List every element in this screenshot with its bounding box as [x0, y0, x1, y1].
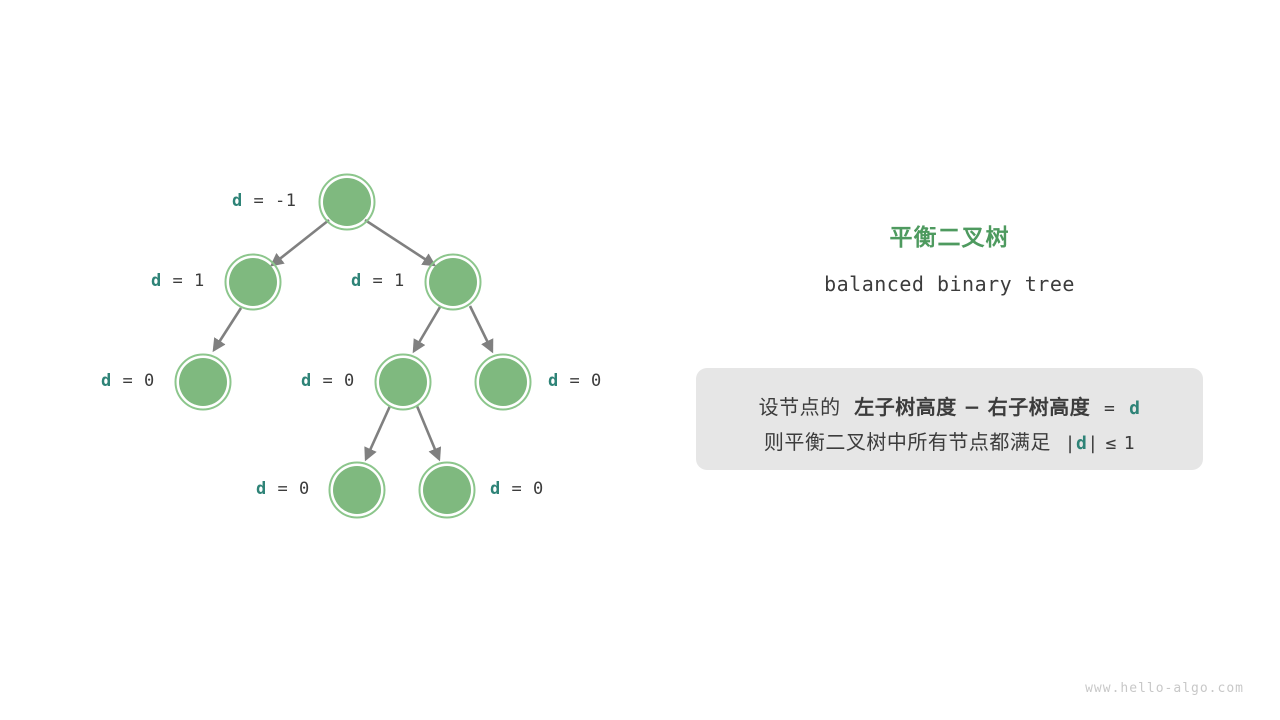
- definition-right-subtree-height: 右子树高度: [988, 395, 1091, 419]
- node-label-left-value: = 1: [162, 271, 205, 291]
- edge-right-rr: [470, 306, 492, 351]
- node-label-left-var: d: [151, 271, 162, 291]
- node-label-right-left-var: d: [301, 371, 312, 391]
- page-subtitle: balanced binary tree: [696, 272, 1203, 296]
- tree-edges: [214, 220, 492, 459]
- tree-node-right-left-right[interactable]: [420, 463, 475, 518]
- node-label-right-left-right-value: = 0: [501, 479, 544, 499]
- tree-node-root[interactable]: [320, 175, 375, 230]
- bound-value: 1: [1124, 433, 1135, 454]
- node-label-right-left: d = 0: [301, 371, 355, 391]
- node-label-right-right: d = 0: [548, 371, 602, 391]
- definition-prefix: 设节点的: [759, 395, 841, 419]
- node-label-right-left-left-var: d: [256, 479, 267, 499]
- tree-node-left-left[interactable]: [176, 355, 231, 410]
- node-label-right-left-left-value: = 0: [267, 479, 310, 499]
- relation-sign: ≤: [1106, 433, 1117, 454]
- definition-box: 设节点的 左子树高度 − 右子树高度 = d 则平衡二叉树中所有节点都满足 |d…: [696, 368, 1203, 470]
- edge-rl-rll: [366, 406, 390, 459]
- node-label-right-right-value: = 0: [559, 371, 602, 391]
- node-label-right-right-var: d: [548, 371, 559, 391]
- definition-variable-d: d: [1129, 398, 1140, 419]
- edge-left-ll: [214, 308, 241, 350]
- node-label-right-value: = 1: [362, 271, 405, 291]
- tree-node-right[interactable]: [426, 255, 481, 310]
- node-label-right-left-value: = 0: [312, 371, 355, 391]
- diagram-canvas: d = -1 d = 1 d = 1 d = 0 d = 0 d = 0 d =…: [0, 0, 1280, 720]
- binary-tree-graphic: [0, 0, 700, 720]
- watermark: www.hello-algo.com: [1085, 681, 1244, 696]
- tree-node-right-left-left[interactable]: [330, 463, 385, 518]
- tree-node-right-left[interactable]: [376, 355, 431, 410]
- node-label-left-left-var: d: [101, 371, 112, 391]
- tree-node-right-right[interactable]: [476, 355, 531, 410]
- tree-nodes: [176, 175, 531, 518]
- tree-node-left[interactable]: [226, 255, 281, 310]
- node-label-right: d = 1: [351, 271, 405, 291]
- node-label-root: d = -1: [232, 191, 296, 211]
- edge-root-right: [365, 220, 434, 265]
- definition-variable-d-abs: d: [1076, 433, 1087, 454]
- definition-left-subtree-height: 左子树高度: [854, 395, 957, 419]
- edge-rl-rlr: [417, 406, 439, 459]
- abs-bar-right: |: [1087, 433, 1098, 454]
- edge-root-left: [272, 220, 329, 265]
- definition-line-2: 则平衡二叉树中所有节点都满足 |d| ≤ 1: [696, 426, 1203, 455]
- definition-line-1: 设节点的 左子树高度 − 右子树高度 = d: [696, 391, 1203, 420]
- node-label-root-value: = -1: [243, 191, 297, 211]
- edge-right-rl: [414, 307, 440, 351]
- node-label-left-left: d = 0: [101, 371, 155, 391]
- definition-minus-sign: −: [964, 395, 981, 419]
- node-label-root-var: d: [232, 191, 243, 211]
- right-panel: 平衡二叉树 balanced binary tree: [696, 224, 1203, 296]
- abs-bar-left: |: [1065, 433, 1076, 454]
- page-title: 平衡二叉树: [696, 224, 1203, 254]
- node-label-left: d = 1: [151, 271, 205, 291]
- node-label-left-left-value: = 0: [112, 371, 155, 391]
- definition-equals-sign: =: [1104, 398, 1115, 419]
- node-label-right-left-right: d = 0: [490, 479, 544, 499]
- node-label-right-var: d: [351, 271, 362, 291]
- node-label-right-left-left: d = 0: [256, 479, 310, 499]
- definition-condition-prefix: 则平衡二叉树中所有节点都满足: [764, 430, 1051, 454]
- node-label-right-left-right-var: d: [490, 479, 501, 499]
